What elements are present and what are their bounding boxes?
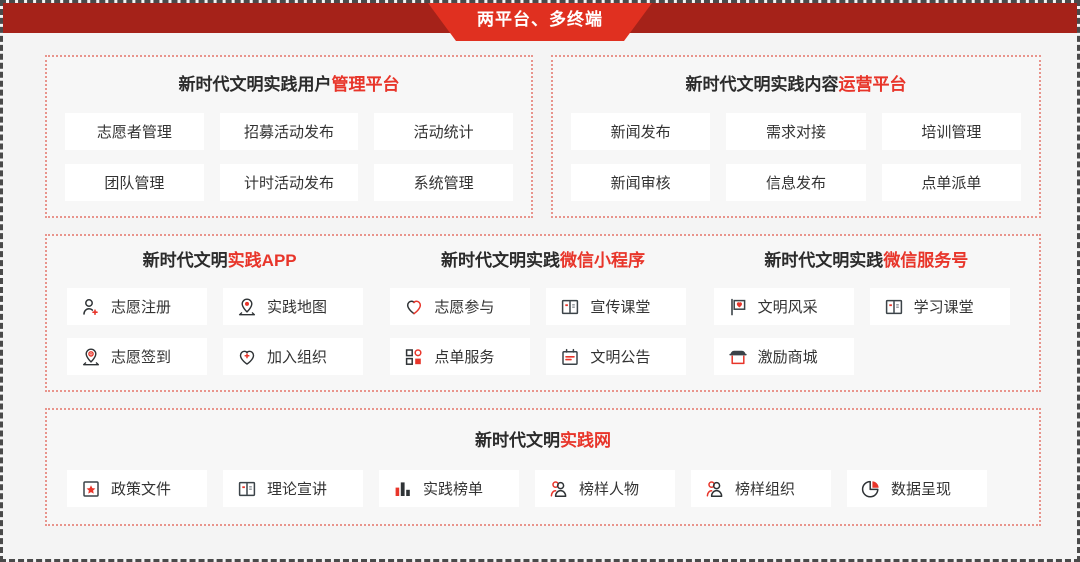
tile-system-management[interactable]: 系统管理 xyxy=(374,164,513,201)
panel-title-plain: 新时代文明 xyxy=(475,431,560,450)
grid-squares-icon xyxy=(404,347,424,367)
tile-label: 文明风采 xyxy=(758,296,818,317)
tile-row: 新闻发布 需求对接 培训管理 xyxy=(571,113,1021,150)
tile-row: 点单服务 文明公告 xyxy=(390,338,695,375)
banner-ribbon: 两平台、多终端 xyxy=(428,3,652,41)
tile-row: 文明风采 学习课堂 xyxy=(714,288,1019,325)
column-title: 新时代文明实践微信小程序 xyxy=(390,252,695,269)
open-book-icon xyxy=(560,297,580,317)
banner-title: 两平台、多终端 xyxy=(477,11,603,33)
tile-row: 激励商城 xyxy=(714,338,1019,375)
tile-news-publish[interactable]: 新闻发布 xyxy=(571,113,710,150)
map-pin-icon xyxy=(237,297,257,317)
tile-practice-ranking[interactable]: 实践榜单 xyxy=(379,470,519,507)
open-book-icon xyxy=(884,297,904,317)
calendar-icon xyxy=(560,347,580,367)
tile-label: 志愿签到 xyxy=(111,346,171,367)
column-title: 新时代文明实践微信服务号 xyxy=(714,252,1019,269)
column-title-accent: 微信服务号 xyxy=(883,251,968,270)
tile-row: 团队管理 计时活动发布 系统管理 xyxy=(65,164,513,201)
panel-title: 新时代文明实践用户管理平台 xyxy=(47,76,531,93)
column-title-plain: 新时代文明实践 xyxy=(441,251,560,270)
tile-volunteer-checkin[interactable]: 志愿签到 xyxy=(67,338,207,375)
tile-training-management[interactable]: 培训管理 xyxy=(882,113,1021,150)
tile-order-dispatch[interactable]: 点单派单 xyxy=(882,164,1021,201)
tile-label: 榜样组织 xyxy=(735,478,795,499)
bar-chart-icon xyxy=(393,479,413,499)
tile-study-classroom[interactable]: 学习课堂 xyxy=(870,288,1010,325)
terminal-columns: 新时代文明实践APP 志愿注册 实践地图 xyxy=(47,236,1039,375)
tile-join-organization[interactable]: 加入组织 xyxy=(223,338,363,375)
tile-label: 理论宣讲 xyxy=(267,478,327,499)
tile-volunteer-participate[interactable]: 志愿参与 xyxy=(390,288,530,325)
column-title-plain: 新时代文明实践 xyxy=(764,251,883,270)
panel-title-accent: 运营平台 xyxy=(839,75,907,94)
tile-publicity-classroom[interactable]: 宣传课堂 xyxy=(546,288,686,325)
tile-row: 志愿参与 宣传课堂 xyxy=(390,288,695,325)
tile-label: 激励商城 xyxy=(758,346,818,367)
tile-volunteer-management[interactable]: 志愿者管理 xyxy=(65,113,204,150)
panel-title-accent: 实践网 xyxy=(560,431,611,450)
tile-activity-statistics[interactable]: 活动统计 xyxy=(374,113,513,150)
open-book-icon xyxy=(237,479,257,499)
terminal-column-mini-program: 新时代文明实践微信小程序 志愿参与 宣传课堂 xyxy=(390,252,695,375)
poster-canvas: 两平台、多终端 新时代文明实践用户管理平台 志愿者管理 招募活动发布 活动统计 … xyxy=(0,0,1080,562)
tile-volunteer-register[interactable]: 志愿注册 xyxy=(67,288,207,325)
panel-title-accent: 管理平台 xyxy=(332,75,400,94)
tile-news-review[interactable]: 新闻审核 xyxy=(571,164,710,201)
map-pin-check-icon xyxy=(81,347,101,367)
tile-theory-lecture[interactable]: 理论宣讲 xyxy=(223,470,363,507)
tile-practice-map[interactable]: 实践地图 xyxy=(223,288,363,325)
flag-heart-icon xyxy=(728,297,748,317)
tile-row: 志愿注册 实践地图 xyxy=(67,288,372,325)
tile-label: 实践榜单 xyxy=(423,478,483,499)
panel-title-plain: 新时代文明实践用户 xyxy=(179,75,332,94)
tile-row: 政策文件 理论宣讲 实践榜单 榜样人物 xyxy=(47,470,1039,507)
tile-label: 学习课堂 xyxy=(914,296,974,317)
shop-icon xyxy=(728,347,748,367)
heart-icon xyxy=(404,297,424,317)
tile-policy-document[interactable]: 政策文件 xyxy=(67,470,207,507)
tile-recruit-activity-publish[interactable]: 招募活动发布 xyxy=(220,113,359,150)
heart-plus-icon xyxy=(237,347,257,367)
pie-chart-icon xyxy=(861,479,881,499)
panel-content-operation-platform: 新时代文明实践内容运营平台 新闻发布 需求对接 培训管理 新闻审核 信息发布 点… xyxy=(551,55,1041,218)
tile-role-model-person[interactable]: 榜样人物 xyxy=(535,470,675,507)
tile-civilization-style[interactable]: 文明风采 xyxy=(714,288,854,325)
tile-demand-matching[interactable]: 需求对接 xyxy=(726,113,865,150)
person-add-icon xyxy=(81,297,101,317)
tile-team-management[interactable]: 团队管理 xyxy=(65,164,204,201)
tile-info-publish[interactable]: 信息发布 xyxy=(726,164,865,201)
tile-label: 志愿参与 xyxy=(434,296,494,317)
tile-grid: 志愿者管理 招募活动发布 活动统计 团队管理 计时活动发布 系统管理 xyxy=(47,113,531,201)
tile-label: 数据呈现 xyxy=(891,478,951,499)
tile-timed-activity-publish[interactable]: 计时活动发布 xyxy=(220,164,359,201)
tile-role-model-organization[interactable]: 榜样组织 xyxy=(691,470,831,507)
tile-row: 志愿者管理 招募活动发布 活动统计 xyxy=(65,113,513,150)
tile-label: 榜样人物 xyxy=(579,478,639,499)
tile-spacer xyxy=(870,338,1010,375)
tile-label: 加入组织 xyxy=(267,346,327,367)
tile-label: 宣传课堂 xyxy=(590,296,650,317)
terminal-column-service-account: 新时代文明实践微信服务号 文明风采 学习课堂 xyxy=(714,252,1019,375)
tile-civilization-announcement[interactable]: 文明公告 xyxy=(546,338,686,375)
tile-label: 志愿注册 xyxy=(111,296,171,317)
tile-row: 志愿签到 加入组织 xyxy=(67,338,372,375)
document-star-icon xyxy=(81,479,101,499)
two-people-icon xyxy=(705,479,725,499)
tile-row: 新闻审核 信息发布 点单派单 xyxy=(571,164,1021,201)
tile-label: 点单服务 xyxy=(434,346,494,367)
tile-incentive-mall[interactable]: 激励商城 xyxy=(714,338,854,375)
panel-user-management-platform: 新时代文明实践用户管理平台 志愿者管理 招募活动发布 活动统计 团队管理 计时活… xyxy=(45,55,533,218)
panel-title: 新时代文明实践网 xyxy=(47,432,1039,449)
tile-data-presentation[interactable]: 数据呈现 xyxy=(847,470,987,507)
panel-practice-website: 新时代文明实践网 政策文件 理论宣讲 实践榜单 xyxy=(45,408,1041,526)
banner-strip: 两平台、多终端 xyxy=(3,3,1077,33)
tile-label: 政策文件 xyxy=(111,478,171,499)
column-title-accent: 微信小程序 xyxy=(560,251,645,270)
column-title-accent: 实践APP xyxy=(228,251,297,270)
tile-grid: 新闻发布 需求对接 培训管理 新闻审核 信息发布 点单派单 xyxy=(553,113,1039,201)
column-title-plain: 新时代文明 xyxy=(143,251,228,270)
column-title: 新时代文明实践APP xyxy=(67,252,372,269)
panel-title: 新时代文明实践内容运营平台 xyxy=(553,76,1039,93)
panel-terminals: 新时代文明实践APP 志愿注册 实践地图 xyxy=(45,234,1041,392)
two-people-icon xyxy=(549,479,569,499)
tile-label: 实践地图 xyxy=(267,296,327,317)
panel-title-plain: 新时代文明实践内容 xyxy=(686,75,839,94)
tile-order-service[interactable]: 点单服务 xyxy=(390,338,530,375)
tile-label: 文明公告 xyxy=(590,346,650,367)
terminal-column-app: 新时代文明实践APP 志愿注册 实践地图 xyxy=(67,252,372,375)
